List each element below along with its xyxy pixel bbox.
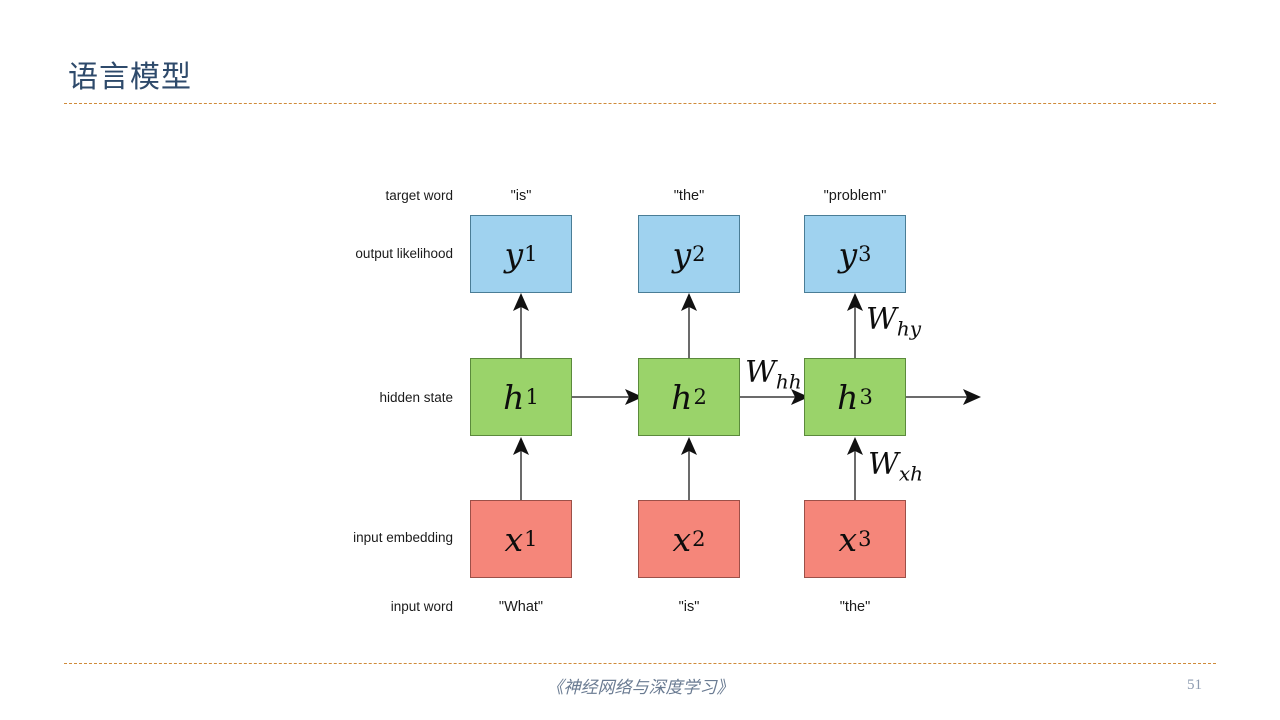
node-y2[interactable]: y2	[638, 215, 740, 293]
node-x3-subscript: 3	[858, 529, 871, 550]
weight-label-w-xh: Wxh	[868, 450, 923, 483]
row-label-output-likelihood: output likelihood	[355, 246, 453, 261]
node-y1-subscript: 1	[524, 244, 537, 265]
row-label-input-embedding: input embedding	[353, 530, 453, 545]
weight-w-hh-subscript: hh	[776, 369, 802, 393]
input-word-t3: "the"	[775, 599, 935, 615]
node-x3[interactable]: x3	[804, 500, 906, 578]
node-y2-subscript: 2	[692, 244, 705, 265]
target-word-t3: "problem"	[775, 188, 935, 204]
weight-w-xh-symbol: W	[868, 447, 899, 482]
node-h2[interactable]: h2	[638, 358, 740, 436]
node-x1-subscript: 1	[524, 529, 537, 550]
node-y1[interactable]: y1	[470, 215, 572, 293]
node-x1-symbol: x	[505, 523, 524, 556]
node-y1-symbol: y	[504, 238, 523, 271]
node-y2-symbol: y	[672, 238, 691, 271]
node-h3-subscript: 3	[859, 387, 872, 408]
footer-divider	[64, 663, 1216, 664]
node-x3-symbol: x	[839, 523, 858, 556]
node-h1-symbol: h	[503, 381, 524, 414]
input-word-t2: "is"	[609, 599, 769, 615]
node-h1[interactable]: h1	[470, 358, 572, 436]
target-word-t2: "the"	[609, 188, 769, 204]
weight-w-hy-symbol: W	[866, 302, 897, 337]
node-y3-symbol: y	[838, 238, 857, 271]
weight-label-w-hh: Whh	[745, 358, 802, 391]
page-number: 51	[1187, 677, 1202, 694]
footer-book-title: 《神经网络与深度学习》	[0, 673, 1280, 698]
node-h3[interactable]: h3	[804, 358, 906, 436]
node-x2-subscript: 2	[692, 529, 705, 550]
node-x2[interactable]: x2	[638, 500, 740, 578]
node-h3-symbol: h	[837, 381, 858, 414]
weight-w-xh-subscript: xh	[899, 461, 923, 485]
weight-w-hy-subscript: hy	[897, 316, 921, 340]
weight-label-w-hy: Why	[866, 305, 921, 338]
weight-w-hh-symbol: W	[745, 355, 776, 390]
rnn-diagram: target word output likelihood hidden sta…	[0, 0, 1280, 720]
node-y3[interactable]: y3	[804, 215, 906, 293]
row-label-hidden-state: hidden state	[379, 390, 453, 405]
input-word-t1: "What"	[441, 599, 601, 615]
node-x1[interactable]: x1	[470, 500, 572, 578]
node-h2-subscript: 2	[693, 387, 706, 408]
node-y3-subscript: 3	[858, 244, 871, 265]
node-x2-symbol: x	[673, 523, 692, 556]
node-h1-subscript: 1	[525, 387, 538, 408]
node-h2-symbol: h	[671, 381, 692, 414]
target-word-t1: "is"	[441, 188, 601, 204]
